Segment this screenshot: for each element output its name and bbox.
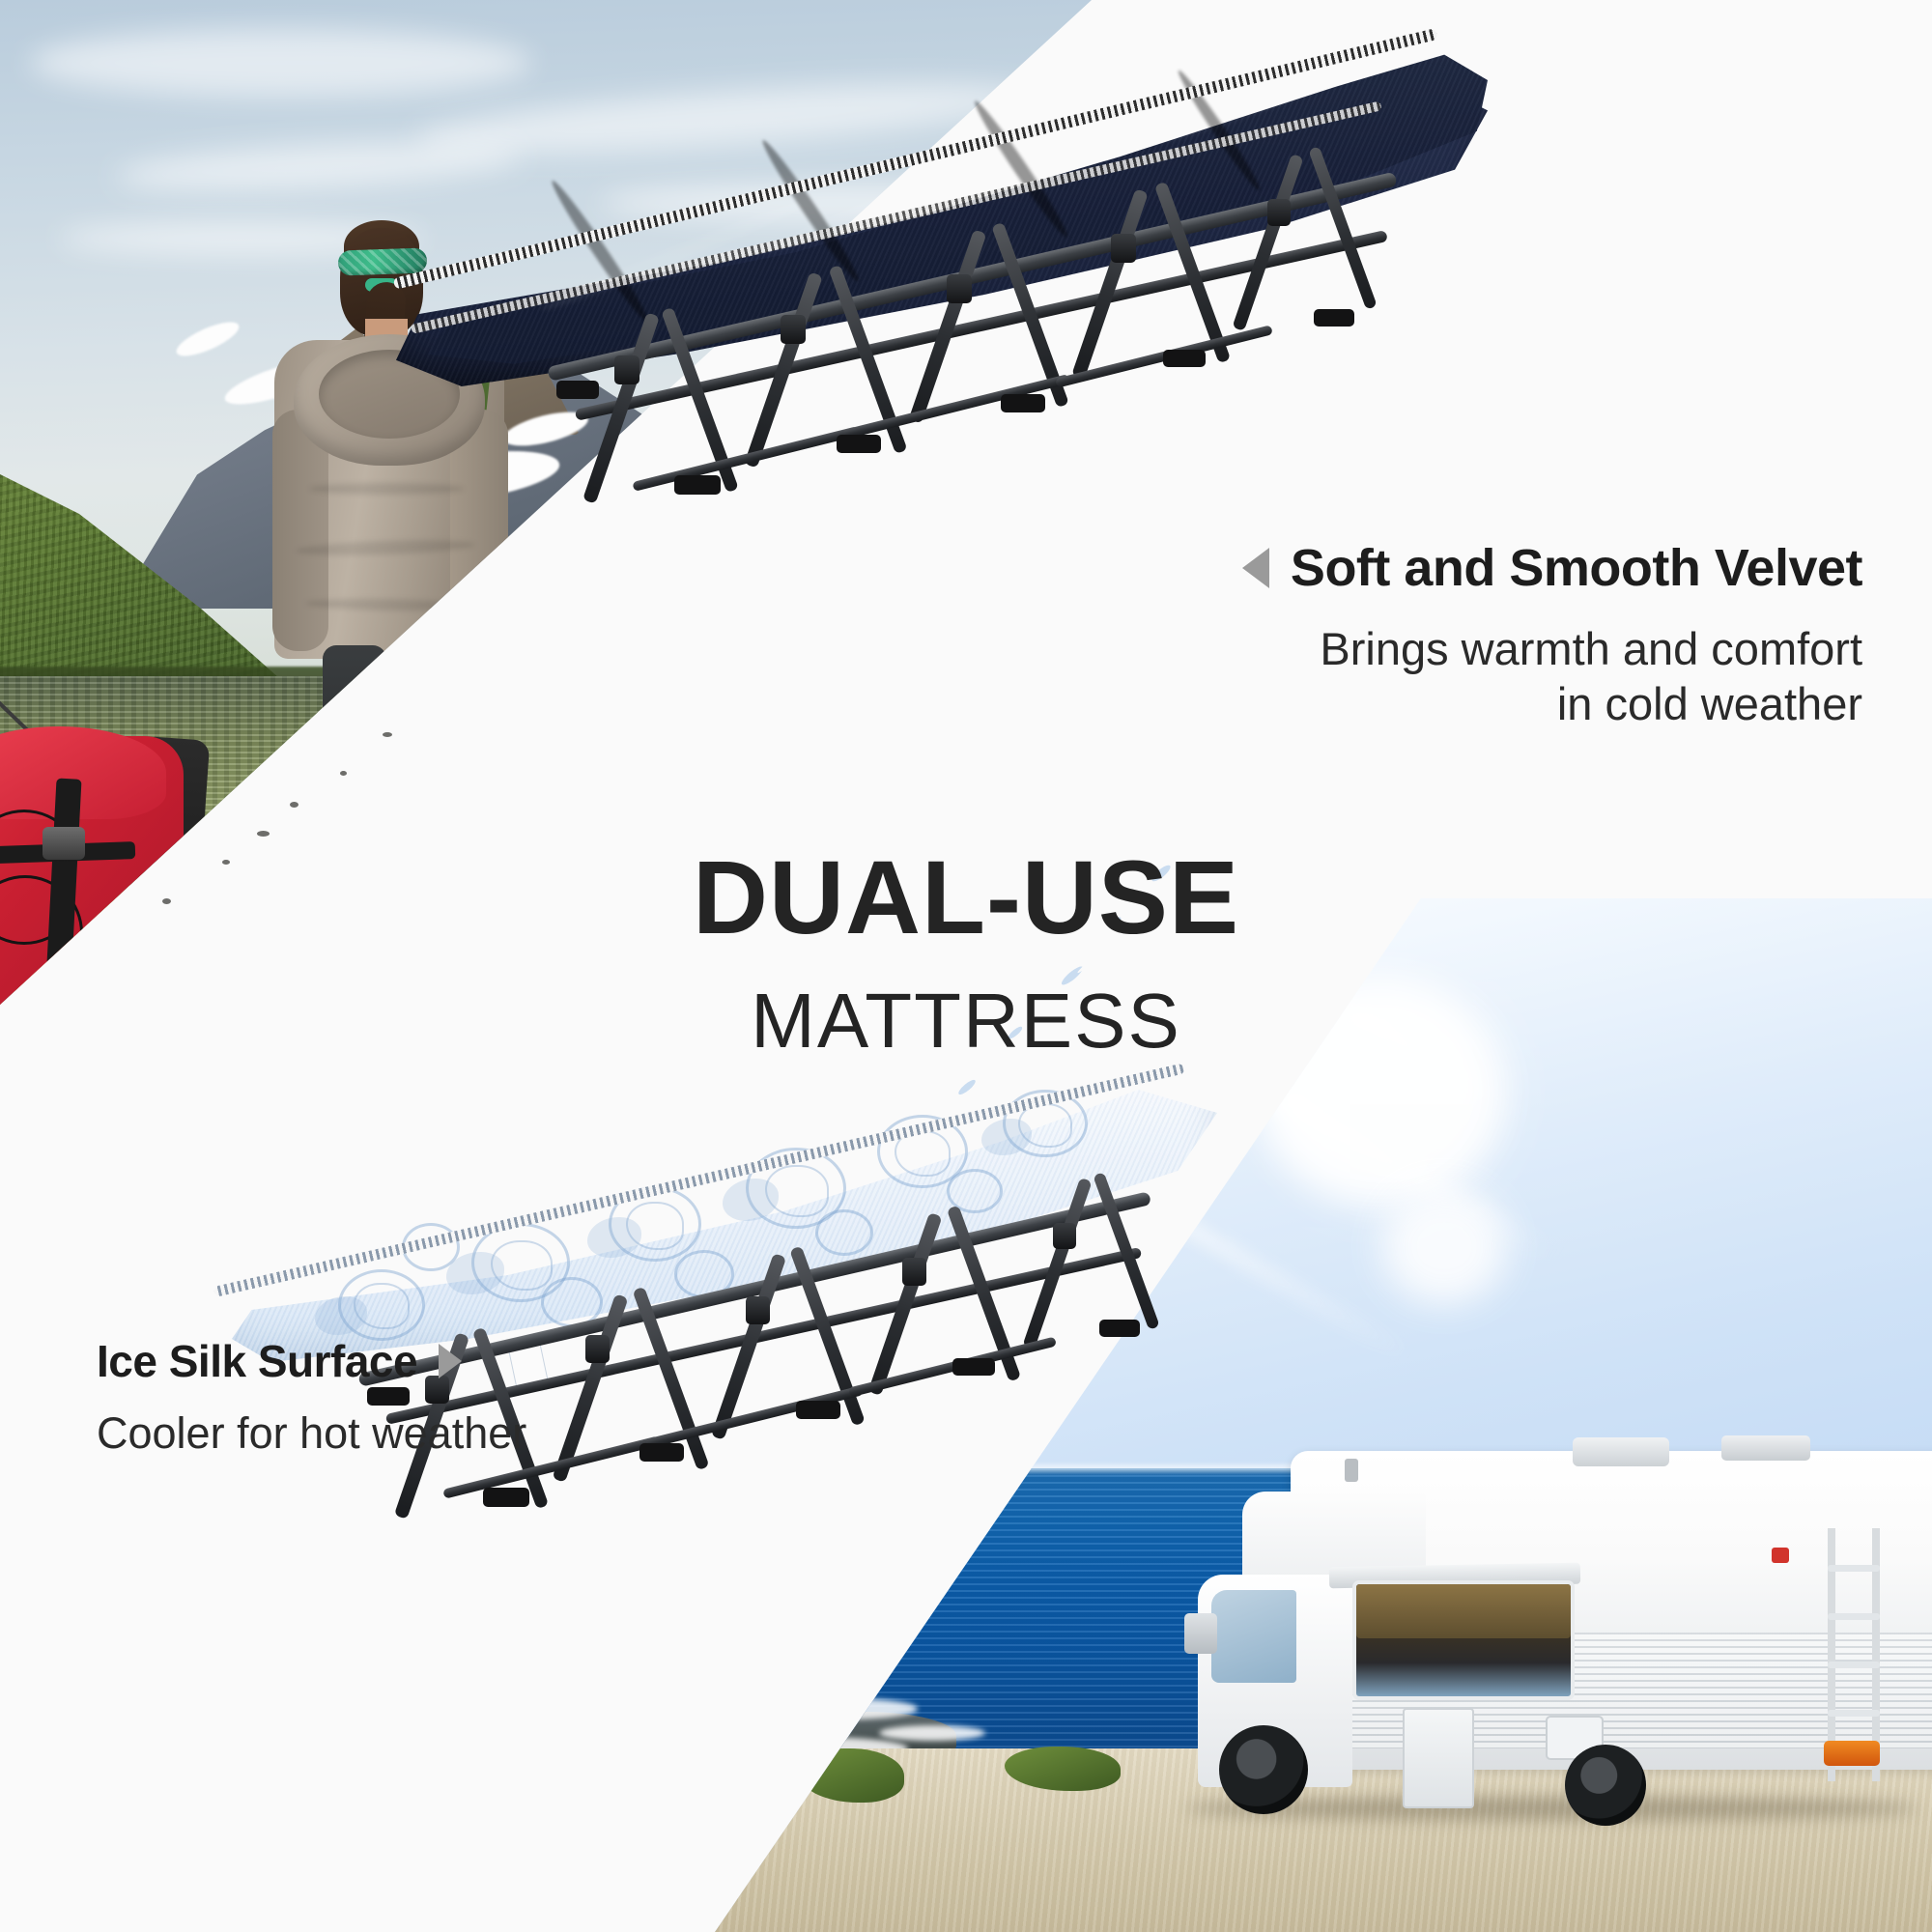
frame-joint (1111, 234, 1136, 263)
ice-silk-folding-cot (193, 1034, 1275, 1575)
title-main: DUAL-USE (0, 845, 1932, 950)
windshield (1211, 1590, 1296, 1683)
feature-velvet-heading: Soft and Smooth Velvet (1291, 541, 1862, 596)
ladder-rung (1828, 1613, 1880, 1620)
frame-foot (674, 475, 721, 495)
bare-calf-left (330, 763, 381, 848)
frame-joint (1053, 1223, 1076, 1249)
feature-velvet-description-line1: Brings warmth and comfort (1242, 621, 1862, 676)
frame-joint (902, 1258, 926, 1286)
frame-foot (796, 1401, 840, 1419)
entry-door (1403, 1708, 1474, 1808)
lens-flare (1381, 1188, 1507, 1304)
marker-light (1772, 1548, 1789, 1563)
tail-light (1824, 1741, 1880, 1766)
frame-joint (585, 1335, 610, 1363)
frame-foot (1163, 350, 1206, 367)
bare-calf-right (406, 763, 458, 846)
triangle-right-icon (439, 1344, 462, 1378)
frame-cross-brace (632, 426, 859, 492)
navy-velvet-folding-cot (386, 19, 1526, 522)
frame-foot (1099, 1320, 1140, 1337)
rear-wheel (1565, 1745, 1646, 1826)
side-mirror (1184, 1613, 1217, 1654)
ladder-rung (1828, 1710, 1880, 1717)
frame-joint (614, 355, 639, 384)
frame-foot (1001, 394, 1045, 412)
feature-velvet-description-line2: in cold weather (1242, 676, 1862, 731)
front-wheel (1219, 1725, 1308, 1814)
paint-speck (567, 526, 592, 550)
feature-ice-silk-description: Cooler for hot weather (97, 1407, 526, 1461)
paint-speck-dark (340, 771, 347, 776)
floral-motif (815, 1209, 873, 1256)
feature-velvet-text-block: Soft and Smooth Velvet Brings warmth and… (1242, 541, 1862, 731)
feature-velvet-description: Brings warmth and comfort in cold weathe… (1242, 621, 1862, 732)
feature-ice-silk-description-line1: Cooler for hot weather (97, 1407, 526, 1461)
legging-left (323, 645, 386, 773)
frame-joint (1267, 199, 1291, 226)
frame-foot (556, 381, 599, 399)
feature-ice-silk-text-block: Ice Silk Surface Cooler for hot weather (97, 1338, 526, 1461)
feature-velvet-heading-row: Soft and Smooth Velvet (1242, 541, 1862, 596)
sea-foam (879, 1725, 985, 1741)
legging-right (400, 645, 466, 771)
coastal-shrub (715, 1725, 821, 1793)
product-banner: Soft and Smooth Velvet Brings warmth and… (0, 0, 1932, 1932)
ladder-rung (1828, 1565, 1880, 1572)
roof-vent (1721, 1435, 1810, 1461)
ladder-rung (1828, 1662, 1880, 1668)
frame-foot (1314, 309, 1354, 327)
frame-foot (483, 1488, 529, 1507)
page-title: DUAL-USE MATTRESS (0, 845, 1932, 1060)
triangle-left-icon (1242, 548, 1269, 588)
paint-speck (328, 758, 344, 773)
title-sub: MATTRESS (0, 982, 1932, 1060)
frame-foot (639, 1443, 684, 1462)
paint-speck (406, 683, 428, 704)
roof-antenna (1345, 1459, 1358, 1482)
paint-speck-dark (257, 831, 270, 837)
frame-joint (947, 274, 972, 303)
paint-speck (483, 606, 499, 622)
paint-speck-dark (290, 802, 298, 808)
sea-foam (773, 1698, 918, 1719)
paint-speck-dark (383, 732, 392, 737)
roof-air-conditioner (1573, 1437, 1669, 1466)
window-shade (1356, 1584, 1571, 1638)
frame-foot (952, 1358, 995, 1376)
frame-joint (781, 315, 806, 344)
feature-ice-silk-heading: Ice Silk Surface (97, 1338, 417, 1384)
frame-joint (746, 1296, 770, 1324)
frame-foot (837, 435, 881, 453)
feature-ice-silk-heading-row: Ice Silk Surface (97, 1338, 526, 1384)
